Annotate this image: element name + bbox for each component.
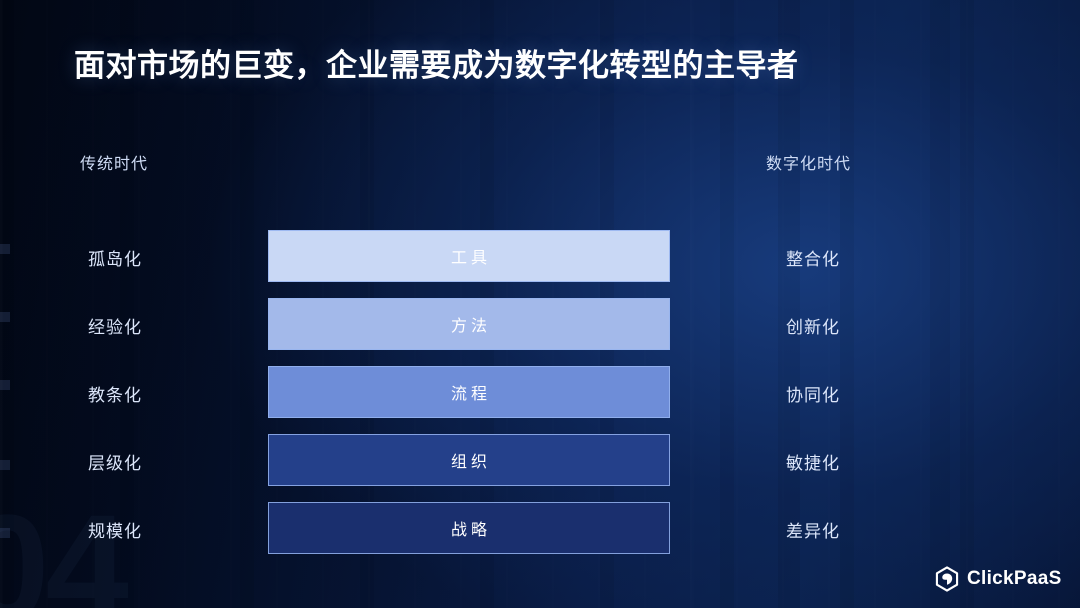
stage-bar[interactable]: 方法	[268, 298, 670, 350]
traditional-label: 经验化	[88, 313, 142, 338]
slide-canvas: 04 面对市场的巨变，企业需要成为数字化转型的主导者 传统时代 数字化时代 孤岛…	[0, 0, 1080, 608]
hexagon-logo-icon	[934, 566, 960, 592]
digital-label: 协同化	[786, 381, 840, 406]
stage-bar-label: 战略	[447, 516, 491, 540]
traditional-label: 孤岛化	[88, 245, 142, 270]
slide-content: 面对市场的巨变，企业需要成为数字化转型的主导者 传统时代 数字化时代 孤岛化工具…	[0, 0, 1080, 608]
column-header-digital: 数字化时代	[766, 150, 851, 174]
brand-name: ClickPaaS	[967, 568, 1062, 590]
traditional-label: 规模化	[88, 517, 142, 542]
stage-bar-label: 组织	[447, 448, 491, 472]
stage-bar[interactable]: 工具	[268, 230, 670, 282]
brand-logo: ClickPaaS	[934, 566, 1062, 592]
stage-bar[interactable]: 流程	[268, 366, 670, 418]
digital-label: 差异化	[786, 517, 840, 542]
traditional-label: 层级化	[88, 449, 142, 474]
stage-bar[interactable]: 组织	[268, 434, 670, 486]
digital-label: 创新化	[786, 313, 840, 338]
stage-bar-label: 方法	[447, 312, 491, 336]
stage-bar-label: 流程	[447, 380, 491, 404]
stage-bar[interactable]: 战略	[268, 502, 670, 554]
digital-label: 敏捷化	[786, 449, 840, 474]
column-header-traditional: 传统时代	[80, 150, 148, 174]
stage-bar-label: 工具	[447, 244, 491, 268]
traditional-label: 教条化	[88, 381, 142, 406]
page-title: 面对市场的巨变，企业需要成为数字化转型的主导者	[74, 40, 799, 85]
digital-label: 整合化	[786, 245, 840, 270]
